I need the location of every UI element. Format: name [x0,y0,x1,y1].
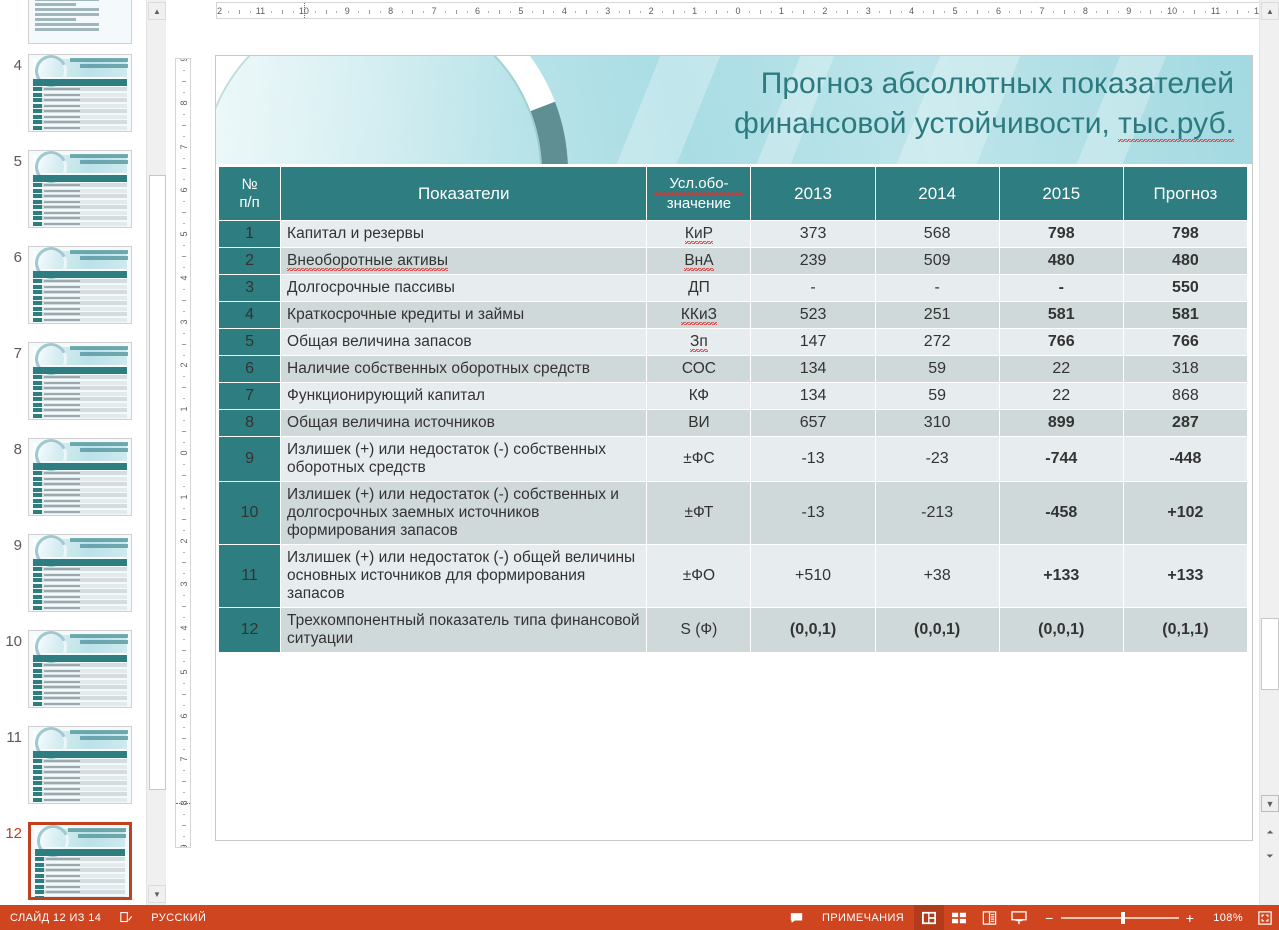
ruler-tick-mark [597,11,598,13]
ruler-tick-mark [336,11,337,13]
thumbnail-table-row [33,183,127,187]
cell-value-2014: -23 [875,437,999,482]
thumbnail-table [33,759,127,799]
language-indicator[interactable]: РУССКИЙ [141,912,216,924]
slide-thumbnail-7[interactable]: 7 [0,342,146,420]
cell-value-forecast: +102 [1123,482,1247,545]
thumbnail-table-header [33,271,127,278]
thumbnail-table-row [35,863,125,867]
previous-slide-icon[interactable]: ⏶ [1261,824,1279,841]
th-year-2015: 2015 [999,167,1123,221]
ruler-tick-label: 5 [179,669,189,674]
ruler-tick-mark [1226,11,1227,13]
thumbnail-table-row [33,205,127,209]
ruler-tick-label: 4 [179,275,189,280]
slide-scrollbar-thumb[interactable] [1261,618,1279,690]
thumbnail-table-row [33,696,127,700]
ruler-tick-mark [183,552,185,553]
thumbnail-table-row [33,126,127,130]
thumbnail-table-row [33,200,127,204]
ruler-tick-mark [183,442,185,443]
thumbnail-table-row [33,375,127,379]
thumbnail-table-row [33,680,127,684]
zoom-out-button[interactable]: − [1038,910,1061,926]
ruler-tick-mark [315,11,316,13]
ruler-tick-label: 6 [996,6,1001,16]
cell-indicator-name: Долгосрочные пассивы [281,275,647,302]
ruler-tick-mark [412,10,413,14]
ruler-tick-mark [183,530,185,531]
ruler-tick-label: 0 [179,450,189,455]
slide-thumbnail-10[interactable]: 10 [0,630,146,708]
ruler-tick-label: 1 [179,494,189,499]
ruler-tick-mark [423,11,424,13]
thumbnail-table-row [33,211,127,215]
thumbnail-table-row [33,403,127,407]
ruler-tick-mark [760,10,761,14]
slide-thumbnail-number: 7 [0,342,28,361]
ruler-tick-mark [684,11,685,13]
cell-value-2013: +510 [751,545,875,608]
thumbnail-table-row [33,776,127,780]
thumbnail-title-line [70,634,128,638]
thumbnail-table-header [33,655,127,662]
cell-value-2013: 523 [751,302,875,329]
next-slide-icon[interactable]: ⏷ [1261,848,1279,865]
ruler-tick-mark [1183,11,1184,13]
slide-area-scrollbar[interactable]: ▲ ▼ ⏶ ⏷ [1259,0,1279,905]
ruler-tick-mark [182,694,186,695]
table-row: 10Излишек (+) или недостаток (-) собстве… [219,482,1248,545]
ruler-tick-mark [1150,10,1151,14]
cell-value-forecast: 550 [1123,275,1247,302]
ruler-tick-mark [183,836,185,837]
cell-value-2015: +133 [999,545,1123,608]
thumbnail-table-row [33,499,127,503]
ruler-tick-mark [369,10,370,14]
cell-indicator-name: Капитал и резервы [281,221,647,248]
cell-value-forecast: 798 [1123,221,1247,248]
table-row: 2Внеоборотные активыВнА239509480480 [219,248,1248,275]
thumbnail-table-row [33,477,127,481]
thumbnail-title-line [68,828,126,832]
ruler-tick-mark [182,387,186,388]
ruler-tick-mark [183,179,185,180]
ruler-tick-mark [183,486,185,487]
slide-thumbnail-preview[interactable] [28,726,132,804]
ruler-tick-mark [326,10,327,14]
thumbnail-title-line [70,58,128,62]
thumbnail-table-row [33,222,127,226]
thumbnail-title-line [70,730,128,734]
ruler-tick-mark [183,705,185,706]
cell-value-2014: (0,0,1) [875,608,999,653]
table-row: 11Излишек (+) или недостаток (-) общей в… [219,545,1248,608]
ruler-tick-label: 3 [179,319,189,324]
ruler-tick-mark [183,70,185,71]
thumbnail-table-row [33,573,127,577]
thumbnail-table-row [33,98,127,102]
cell-value-2013: 134 [751,383,875,410]
slide-thumbnail-preview[interactable] [28,822,132,900]
zoom-slider-knob[interactable] [1121,912,1125,924]
thumbnail-table-row [33,109,127,113]
cell-value-2015: 480 [999,248,1123,275]
ruler-tick-label: 8 [179,100,189,105]
ruler-tick-mark [183,289,185,290]
cell-value-2013: 147 [751,329,875,356]
ruler-tick-mark [380,11,381,13]
slide-thumbnail-number: 4 [0,54,28,73]
thumbnail-table-header [35,849,125,856]
ruler-tick-mark [183,398,185,399]
thumbnail-scrollbar-thumb[interactable] [149,175,166,790]
ruler-tick-mark [183,201,185,202]
cell-value-2013: -13 [751,482,875,545]
table-row: 4Краткосрочные кредиты и займыККиЗ523251… [219,302,1248,329]
cell-value-forecast: -448 [1123,437,1247,482]
ruler-tick-label: 9 [1126,6,1131,16]
zoom-in-button[interactable]: + [1179,910,1202,926]
thumbnail-table-header [33,463,127,470]
ruler-tick-mark [586,10,587,14]
ruler-tick-mark [456,10,457,14]
slide-thumbnail-preview[interactable] [28,54,132,132]
ruler-tick-mark [445,11,446,13]
slide-thumbnail-preview[interactable] [28,534,132,612]
slide-title[interactable]: Прогноз абсолютных показателей финансово… [534,64,1234,143]
thumbnail-table-row [35,857,125,861]
slide-thumbnail-preview[interactable] [28,0,132,44]
slide-thumbnail-4[interactable]: 4 [0,54,146,132]
ruler-tick-mark [1031,11,1032,13]
slide-show-view-icon[interactable] [1004,905,1034,930]
ruler-tick-mark [543,10,544,14]
thumbnail-table [33,279,127,319]
cell-value-2015: - [999,275,1123,302]
thumbnail-table-header [33,367,127,374]
slide-thumbnail-preview[interactable] [28,246,132,324]
thumbnail-title-line [70,154,128,158]
ruler-tick-mark [836,11,837,13]
thumbnail-title-line [80,64,128,68]
slide-thumbnail-preview[interactable] [28,150,132,228]
ruler-tick-label: 9 [179,58,189,62]
ruler-tick-mark [183,573,185,574]
ruler-margin-marker [176,803,190,804]
thumbnail-table-row [33,216,127,220]
cell-value-2015: -458 [999,482,1123,545]
ruler-tick-mark [1020,10,1021,14]
thumbnail-table-row [33,189,127,193]
th-year-2013: 2013 [751,167,875,221]
cell-value-forecast: (0,1,1) [1123,608,1247,653]
ruler-tick-mark [183,508,185,509]
ruler-tick-mark [1194,10,1195,14]
ruler-tick-label: 6 [475,6,480,16]
ruler-tick-label: 0 [735,6,740,16]
slide-editing-area[interactable]: Прогноз абсолютных показателей финансово… [191,22,1260,882]
thumbnail-table-row [33,510,127,514]
thumbnail-table-row [33,312,127,316]
slide-thumbnail-9[interactable]: 9 [0,534,146,612]
ruler-tick-mark [1248,11,1249,13]
slide-thumbnail-number: 5 [0,150,28,169]
ruler-tick-mark [182,519,186,520]
thumbnail-table-row [33,318,127,322]
ruler-tick-label: 3 [605,6,610,16]
ruler-tick-mark [499,10,500,14]
cell-indicator-name: Общая величина источников [281,410,647,437]
zoom-slider[interactable]: − + [1034,910,1205,926]
cell-value-2013: 373 [751,221,875,248]
ruler-tick-mark [183,595,185,596]
table-row: 6Наличие собственных оборотных средствСО… [219,356,1248,383]
ruler-tick-mark [792,11,793,13]
ruler-tick-label: 2 [649,6,654,16]
notes-icon[interactable] [782,905,812,930]
ruler-tick-mark [1107,10,1108,14]
cell-value-2014: 59 [875,356,999,383]
slide-sorter-view-icon[interactable] [944,905,974,930]
thumbnail-table-row [33,685,127,689]
ruler-tick-mark [640,11,641,13]
th-row-number: № п/п [219,167,281,221]
cell-row-number: 8 [219,410,281,437]
ruler-tick-mark [1074,11,1075,13]
slide-thumbnail-number: 11 [0,726,28,745]
slide-thumbnail-5[interactable]: 5 [0,150,146,228]
thumbnail-table-row [33,669,127,673]
thumbnail-table [33,183,127,223]
ruler-tick-mark [662,11,663,13]
thumbnail-table-row [33,381,127,385]
thumbnail-table-row [33,408,127,412]
ruler-tick-label: 6 [179,188,189,193]
thumbnail-table-row [33,674,127,678]
table-row: 1Капитал и резервыКиР373568798798 [219,221,1248,248]
thumbnail-bullet-line [35,28,99,31]
thumbnail-table-row [35,879,125,883]
thumbnail-title-line [80,352,128,356]
thumbnail-table-row [33,307,127,311]
fit-slide-to-window-icon[interactable] [1251,911,1279,925]
cell-value-forecast: 766 [1123,329,1247,356]
slide-thumbnail-number: 10 [0,630,28,649]
ruler-tick-label: 4 [909,6,914,16]
ruler-tick-label: 3 [866,6,871,16]
thumbnail-table-row [33,301,127,305]
th-year-2014: 2014 [875,167,999,221]
cell-abbreviation: ВИ [647,410,751,437]
cell-value-2015: (0,0,1) [999,608,1123,653]
table-row: 12Трехкомпонентный показатель типа финан… [219,608,1248,653]
ruler-tick-mark [1118,11,1119,13]
slide-thumbnail-6[interactable]: 6 [0,246,146,324]
ruler-tick-mark [988,11,989,13]
cell-abbreviation: ККиЗ [647,302,751,329]
cell-row-number: 9 [219,437,281,482]
table-row: 9Излишек (+) или недостаток (-) собствен… [219,437,1248,482]
normal-view-icon[interactable] [914,905,944,930]
ruler-tick-mark [183,355,185,356]
thumbnail-table-row [33,285,127,289]
ruler-tick-mark [182,81,186,82]
vertical-ruler: 9876543210123456789 [175,58,191,848]
thumbnail-panel-scrollbar[interactable]: ▲ ▼ [146,0,166,905]
cell-value-forecast: +133 [1123,545,1247,608]
ruler-tick-mark [977,10,978,14]
ruler-tick-label: 4 [562,6,567,16]
thumbnail-table-row [33,115,127,119]
thumbnail-table-row [33,488,127,492]
ruler-tick-mark [183,639,185,640]
ruler-tick-mark [182,212,186,213]
slide-thumbnail-number: 6 [0,246,28,265]
cell-value-2015: 798 [999,221,1123,248]
ruler-tick-mark [716,10,717,14]
ruler-tick-mark [183,92,185,93]
ruler-tick-mark [182,606,186,607]
thumbnail-title-line [80,448,128,452]
thumbnail-bullets [35,0,127,39]
ruler-tick-mark [1009,11,1010,13]
thumbnail-bullet-line [35,13,99,16]
thumbnail-table [33,663,127,703]
slide-thumbnail-preview[interactable] [28,438,132,516]
slide-thumbnail-panel[interactable]: 3456789101112 [0,0,146,905]
thumbnail-table-row [33,787,127,791]
cell-value-2013: 239 [751,248,875,275]
thumbnail-table-row [33,759,127,763]
ruler-tick-mark [183,245,185,246]
ruler-tick-mark [182,344,186,345]
thumbnail-table-row [35,874,125,878]
ruler-tick-mark [282,10,283,14]
scroll-down-arrow-icon[interactable]: ▼ [1261,795,1279,812]
ruler-tick-mark [183,661,185,662]
ruler-tick-mark [182,431,186,432]
cell-value-forecast: 287 [1123,410,1247,437]
ruler-tick-mark [553,11,554,13]
thumbnail-table-row [33,781,127,785]
slide-counter[interactable]: СЛАЙД 12 ИЗ 14 [0,912,111,924]
ruler-tick-label: 9 [179,844,189,848]
zoom-percentage[interactable]: 108% [1205,912,1251,924]
ruler-tick-mark [183,223,185,224]
ruler-tick-mark [183,792,185,793]
ruler-tick-mark [183,464,185,465]
thumbnail-table-row [33,606,127,610]
thumbnail-table-row [33,471,127,475]
thumbnail-table-header [33,559,127,566]
ruler-tick-mark [575,11,576,13]
cell-indicator-name: Излишек (+) или недостаток (-) общей вел… [281,545,647,608]
cell-value-2015: 22 [999,383,1123,410]
ruler-tick-label: 4 [179,626,189,631]
ruler-tick-label: 1 [692,6,697,16]
ruler-tick-label: 1 [179,407,189,412]
cell-indicator-name: Излишек (+) или недостаток (-) собственн… [281,437,647,482]
ruler-tick-mark [705,11,706,13]
ruler-tick-mark [183,617,185,618]
slide-thumbnail-preview[interactable] [28,630,132,708]
cell-value-2014: -213 [875,482,999,545]
cell-value-2015: 22 [999,356,1123,383]
thumbnail-table-row [33,93,127,97]
cell-value-2014: 59 [875,383,999,410]
slide-thumbnail-12[interactable]: 12 [0,822,146,900]
ruler-tick-mark [183,333,185,334]
slide-title-line-2-text: финансовой устойчивости, [734,107,1118,140]
slide-thumbnail-8[interactable]: 8 [0,438,146,516]
ruler-tick-label: 2 [179,363,189,368]
ruler-tick-mark [228,11,229,13]
cell-row-number: 1 [219,221,281,248]
scroll-down-arrow-icon[interactable]: ▼ [148,885,166,903]
cell-row-number: 12 [219,608,281,653]
cell-value-forecast: 581 [1123,302,1247,329]
slide-thumbnail-11[interactable]: 11 [0,726,146,804]
cell-abbreviation: КиР [647,221,751,248]
ruler-tick-mark [890,10,891,14]
scroll-up-arrow-icon[interactable]: ▲ [148,2,166,20]
ruler-tick-mark [402,11,403,13]
thumbnail-table-row [33,595,127,599]
ruler-tick-mark [183,727,185,728]
thumbnail-table-row [33,567,127,571]
financial-stability-table[interactable]: № п/п Показатели Усл.обо- значение 2013 … [218,166,1248,653]
table-row: 7Функционирующий капиталКФ1345922868 [219,383,1248,410]
zoom-slider-track[interactable] [1061,917,1179,919]
th-forecast: Прогноз [1123,167,1247,221]
thumbnail-table-row [33,87,127,91]
slide-thumbnail-3[interactable]: 3 [0,0,146,44]
cell-value-2013: - [751,275,875,302]
thumbnail-title-line [80,160,128,164]
ruler-tick-label: 5 [179,232,189,237]
cell-indicator-name: Внеоборотные активы [281,248,647,275]
cell-row-number: 10 [219,482,281,545]
notes-button[interactable]: ПРИМЕЧАНИЯ [812,912,914,924]
thumbnail-table-header [33,175,127,182]
thumbnail-table [35,857,125,893]
ruler-tick-mark [923,11,924,13]
cell-value-2014: 272 [875,329,999,356]
thumbnail-table-row [33,296,127,300]
thumbnail-table-row [33,798,127,802]
ruler-tick-mark [293,11,294,13]
ruler-tick-mark [182,256,186,257]
scroll-up-arrow-icon[interactable]: ▲ [1261,2,1279,20]
ruler-tick-mark [182,738,186,739]
ruler-tick-mark [1096,11,1097,13]
reading-view-icon[interactable] [974,905,1004,930]
ruler-tick-mark [183,420,185,421]
thumbnail-table-row [33,482,127,486]
ruler-tick-label: 2 [822,6,827,16]
spell-check-icon[interactable] [111,905,141,930]
current-slide[interactable]: Прогноз абсолютных показателей финансово… [216,56,1252,840]
horizontal-ruler: 1211109876543210123456789101112 [216,2,1260,19]
thumbnail-table-row [33,279,127,283]
cell-abbreviation: ±ФТ [647,482,751,545]
ruler-tick-mark [966,11,967,13]
ruler-tick-label: 7 [179,144,189,149]
thumbnail-table-row [35,868,125,872]
slide-thumbnail-preview[interactable] [28,342,132,420]
cell-indicator-name: Наличие собственных оборотных средств [281,356,647,383]
